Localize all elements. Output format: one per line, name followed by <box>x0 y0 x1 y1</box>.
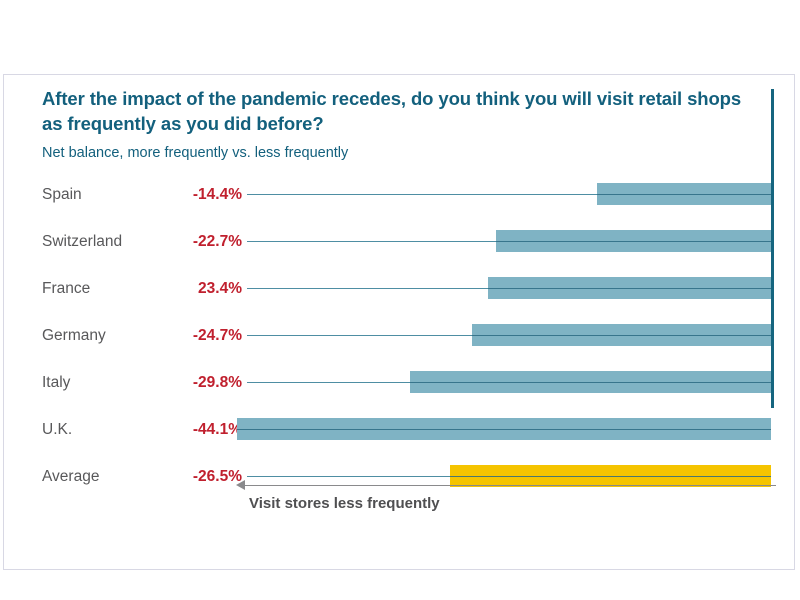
table-row: U.K.-44.1% <box>4 406 796 453</box>
bar-midline <box>450 476 771 477</box>
row-value-switzerland: -22.7% <box>162 218 242 265</box>
table-row: Switzerland-22.7% <box>4 218 796 265</box>
table-row: Spain-14.4% <box>4 171 796 218</box>
leader-line <box>247 241 496 242</box>
leader-line <box>247 194 597 195</box>
bar-midline <box>237 429 771 430</box>
row-label-switzerland: Switzerland <box>42 218 162 265</box>
row-value-italy: -29.8% <box>162 359 242 406</box>
row-label-u-k: U.K. <box>42 406 162 453</box>
bar-midline <box>472 335 771 336</box>
bar-midline <box>488 288 771 289</box>
row-label-spain: Spain <box>42 171 162 218</box>
table-row: Germany-24.7% <box>4 312 796 359</box>
leader-line <box>247 335 472 336</box>
zero-baseline-axis <box>771 89 774 408</box>
bar-midline <box>410 382 771 383</box>
leader-line <box>247 382 410 383</box>
row-value-average: -26.5% <box>162 453 242 500</box>
row-label-italy: Italy <box>42 359 162 406</box>
leader-line <box>247 288 488 289</box>
bar-midline <box>597 194 771 195</box>
leader-line <box>247 476 450 477</box>
row-label-germany: Germany <box>42 312 162 359</box>
row-value-germany: -24.7% <box>162 312 242 359</box>
bar-midline <box>496 241 771 242</box>
chart-card: After the impact of the pandemic recedes… <box>3 74 795 570</box>
row-label-average: Average <box>42 453 162 500</box>
arrow-line <box>242 485 776 486</box>
row-label-france: France <box>42 265 162 312</box>
row-value-france: 23.4% <box>162 265 242 312</box>
direction-arrow <box>236 478 776 494</box>
row-value-u-k: -44.1% <box>162 406 242 453</box>
table-row: Italy-29.8% <box>4 359 796 406</box>
bar-chart-plot: Spain-14.4%Switzerland-22.7%France23.4%G… <box>4 75 796 571</box>
row-value-spain: -14.4% <box>162 171 242 218</box>
direction-caption: Visit stores less frequently <box>249 495 440 512</box>
table-row: France23.4% <box>4 265 796 312</box>
